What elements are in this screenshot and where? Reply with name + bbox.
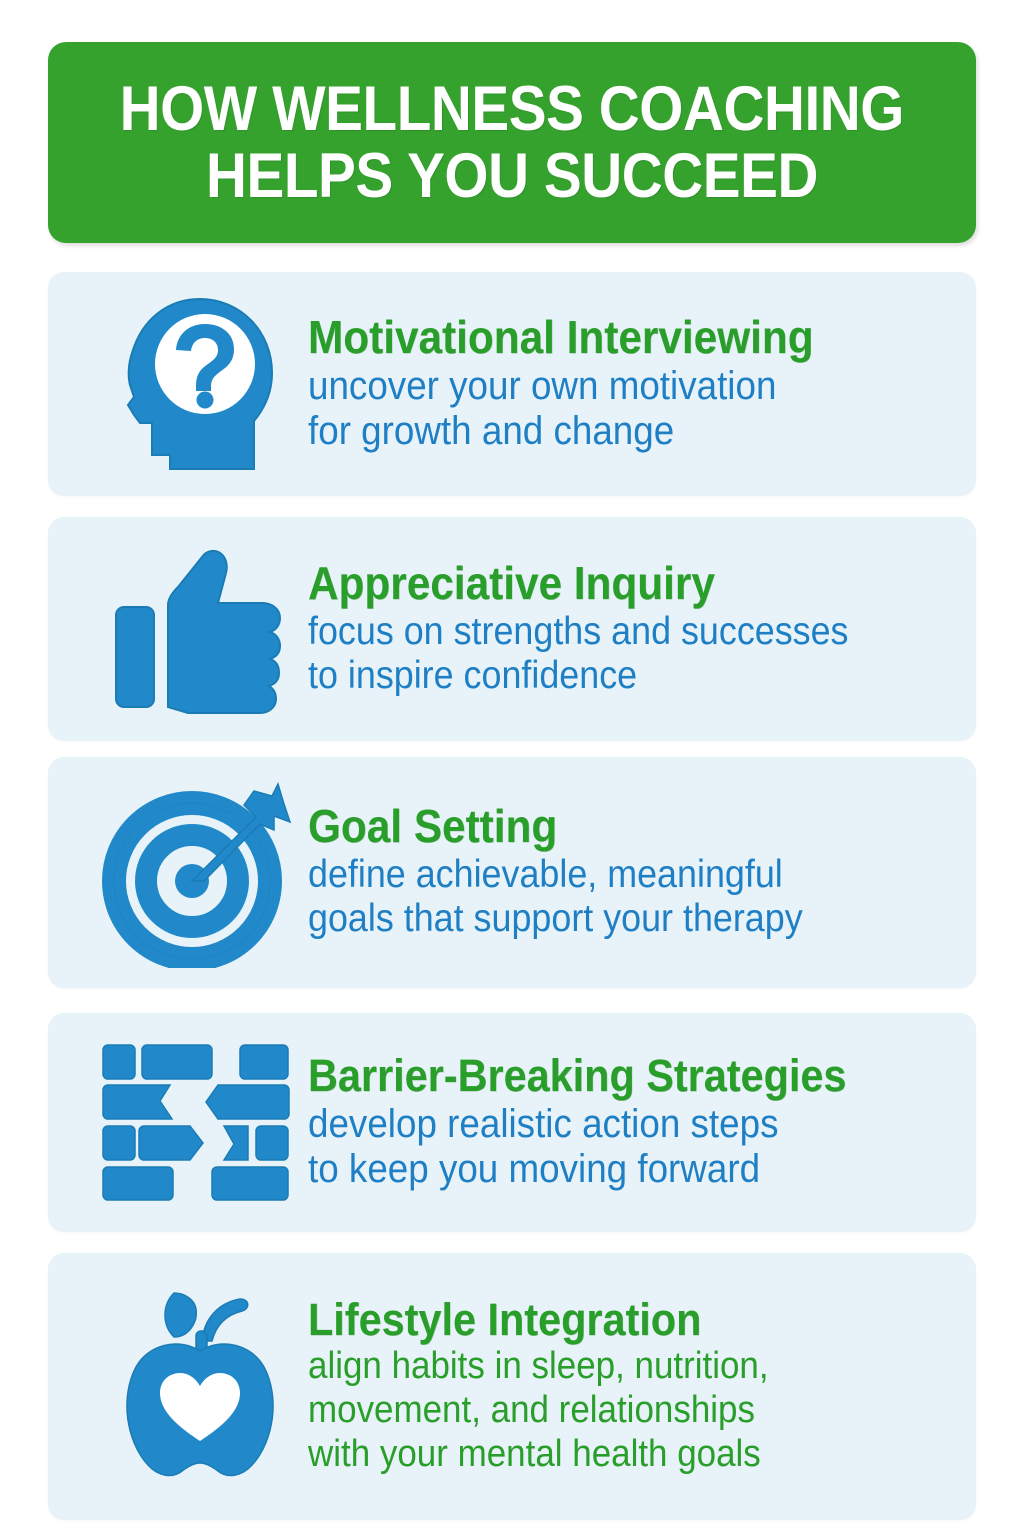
card-body: focus on strengths and successes to insp… — [308, 610, 913, 698]
card-body-line: to inspire confidence — [308, 654, 913, 698]
thumbs-up-icon — [100, 543, 300, 715]
card-body: align habits in sleep, nutrition, moveme… — [308, 1345, 913, 1476]
card-appreciative-inquiry: Appreciative Inquiry focus on strengths … — [48, 517, 976, 741]
header-title-line-2: HELPS YOU SUCCEED — [206, 143, 818, 210]
card-text-block: Barrier-Breaking Strategies develop real… — [300, 1053, 976, 1192]
card-body-line: movement, and relationships — [308, 1389, 913, 1433]
card-barrier-breaking-strategies: Barrier-Breaking Strategies develop real… — [48, 1013, 976, 1232]
card-title: Motivational Interviewing — [308, 314, 913, 361]
card-title: Goal Setting — [308, 803, 913, 850]
card-body-line: align habits in sleep, nutrition, — [308, 1345, 913, 1389]
card-text-block: Motivational Interviewing uncover your o… — [300, 314, 976, 454]
card-body-line: uncover your own motivation — [308, 364, 913, 409]
card-body: develop realistic action steps to keep y… — [308, 1102, 913, 1192]
apple-heart-icon — [100, 1289, 300, 1485]
card-body-line: define achievable, meaningful — [308, 853, 913, 897]
card-title: Lifestyle Integration — [308, 1297, 913, 1343]
card-body: define achievable, meaningful goals that… — [308, 853, 913, 941]
card-body-line: focus on strengths and successes — [308, 610, 913, 654]
card-title: Appreciative Inquiry — [308, 560, 913, 607]
infographic-poster: HOW WELLNESS COACHING HELPS YOU SUCCEED … — [0, 0, 1024, 1536]
card-goal-setting: Goal Setting define achievable, meaningf… — [48, 757, 976, 988]
card-body: uncover your own motivation for growth a… — [308, 364, 913, 454]
head-question-mark-icon — [100, 293, 300, 475]
card-motivational-interviewing: Motivational Interviewing uncover your o… — [48, 272, 976, 496]
card-text-block: Goal Setting define achievable, meaningf… — [300, 803, 976, 941]
broken-brick-wall-icon — [100, 1043, 300, 1203]
card-text-block: Lifestyle Integration align habits in sl… — [300, 1297, 976, 1477]
card-lifestyle-integration: Lifestyle Integration align habits in sl… — [48, 1253, 976, 1520]
card-body-line: with your mental health goals — [308, 1433, 913, 1477]
target-arrow-icon — [100, 778, 300, 968]
header-title-line-1: HOW WELLNESS COACHING — [120, 76, 904, 143]
card-title: Barrier-Breaking Strategies — [308, 1053, 913, 1099]
card-body-line: goals that support your therapy — [308, 897, 913, 941]
card-body-line: to keep you moving forward — [308, 1147, 913, 1192]
card-body-line: for growth and change — [308, 409, 913, 454]
header-banner: HOW WELLNESS COACHING HELPS YOU SUCCEED — [48, 42, 976, 243]
card-body-line: develop realistic action steps — [308, 1102, 913, 1147]
card-text-block: Appreciative Inquiry focus on strengths … — [300, 560, 976, 698]
